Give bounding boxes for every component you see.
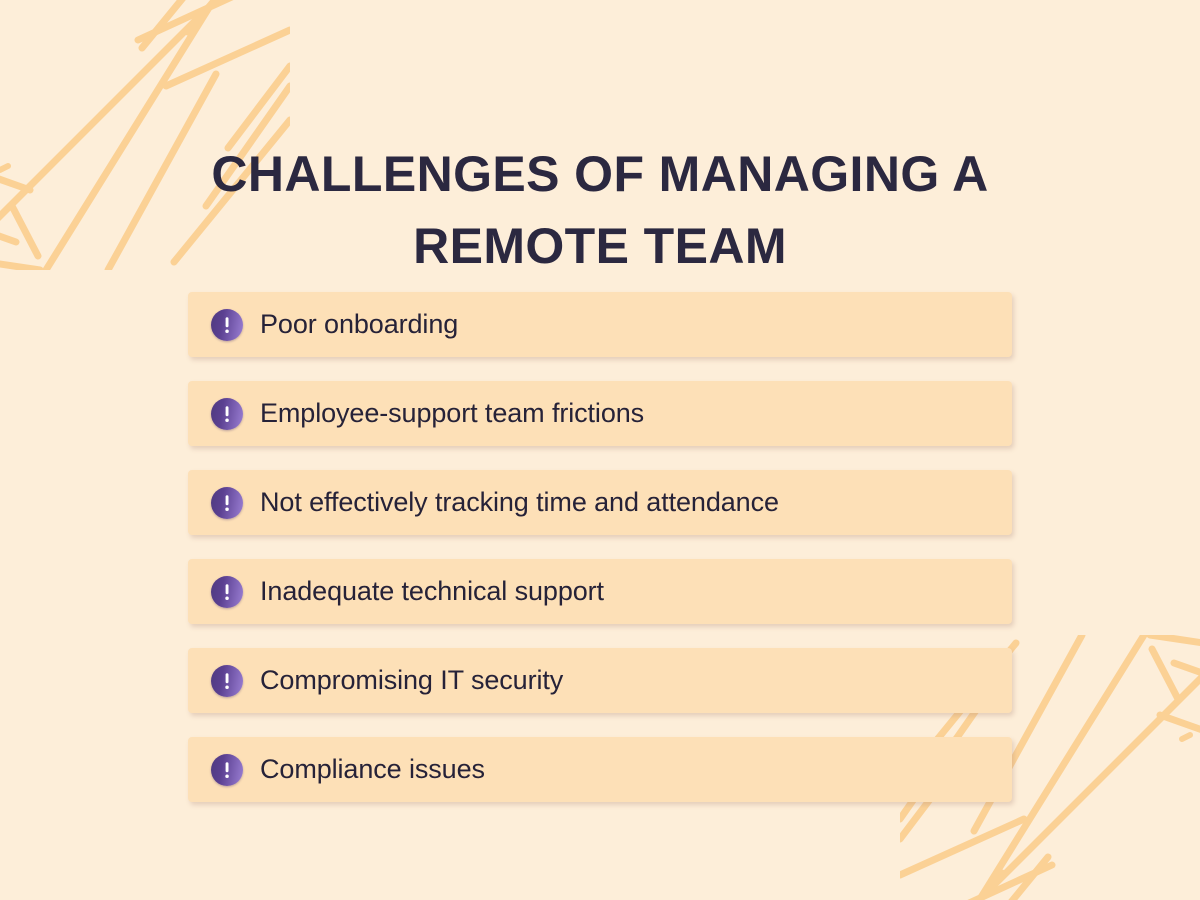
challenges-list: Poor onboarding Employee-support team fr… (188, 292, 1012, 802)
exclamation-circle-icon (211, 487, 243, 519)
infographic-poster: CHALLENGES OF MANAGING A REMOTE TEAM Poo… (0, 0, 1200, 900)
list-item-label: Compromising IT security (260, 665, 563, 696)
exclamation-circle-icon (211, 665, 243, 697)
list-item-label: Not effectively tracking time and attend… (260, 487, 779, 518)
list-item: Employee-support team frictions (188, 381, 1012, 446)
list-item: Inadequate technical support (188, 559, 1012, 624)
list-item: Compliance issues (188, 737, 1012, 802)
exclamation-circle-icon (211, 576, 243, 608)
list-item: Not effectively tracking time and attend… (188, 470, 1012, 535)
exclamation-circle-icon (211, 309, 243, 341)
list-item-label: Employee-support team frictions (260, 398, 644, 429)
list-item-label: Poor onboarding (260, 309, 458, 340)
page-title: CHALLENGES OF MANAGING A REMOTE TEAM (100, 138, 1100, 282)
list-item-label: Compliance issues (260, 754, 485, 785)
exclamation-circle-icon (211, 398, 243, 430)
page-title-line-2: REMOTE TEAM (100, 210, 1100, 282)
list-item: Poor onboarding (188, 292, 1012, 357)
list-item-label: Inadequate technical support (260, 576, 604, 607)
exclamation-circle-icon (211, 754, 243, 786)
page-title-line-1: CHALLENGES OF MANAGING A (100, 138, 1100, 210)
list-item: Compromising IT security (188, 648, 1012, 713)
